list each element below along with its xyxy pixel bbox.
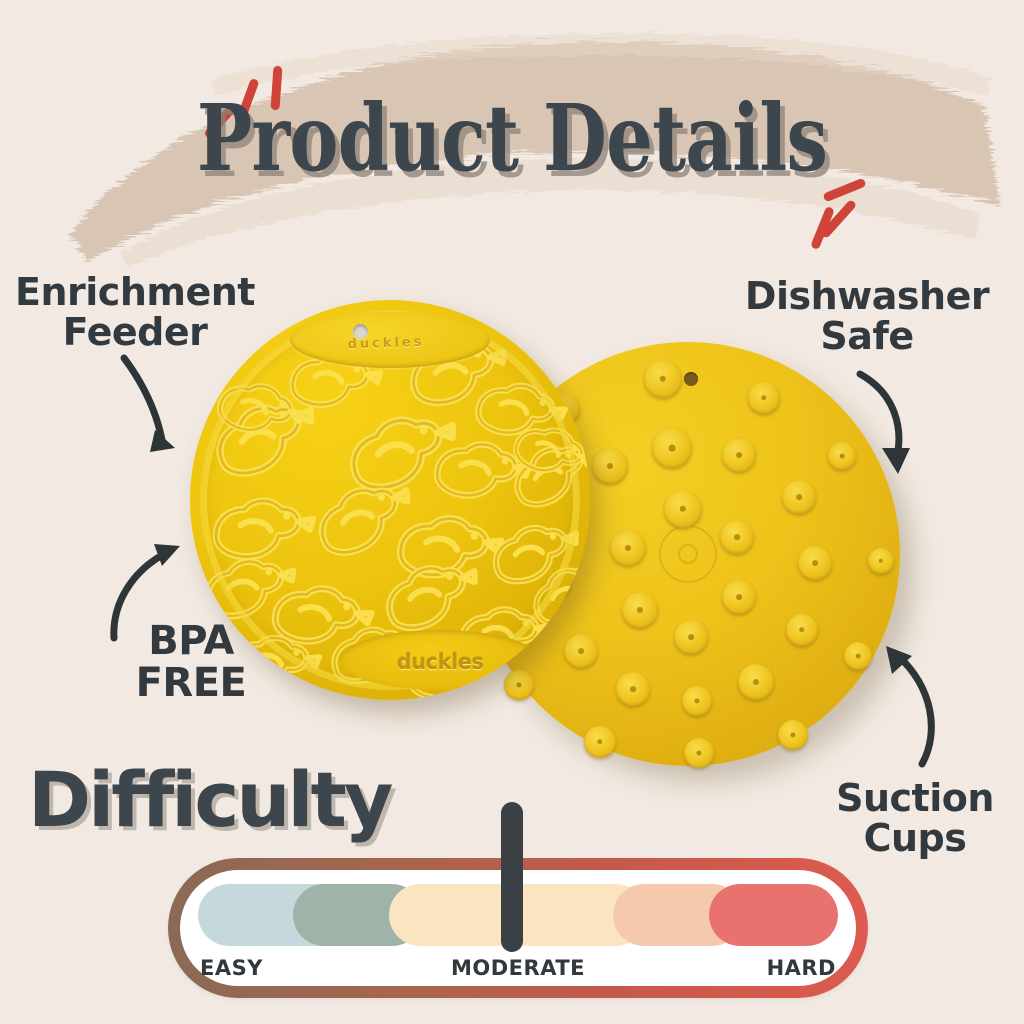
arrow-to-enrichment-feeder [112,352,202,472]
suction-cup [592,448,628,484]
vent-hole [684,372,698,386]
suction-cup [798,546,832,580]
callout-line: Suction [806,778,1024,818]
suction-cup [674,620,708,654]
difficulty-labels: EASY MODERATE HARD [198,946,838,986]
page-title: Product Details [102,92,921,184]
suction-cup [786,614,818,646]
difficulty-indicator[interactable] [501,802,523,952]
difficulty-segment-hard [709,884,838,946]
center-mark [659,525,717,583]
suction-cup [720,520,754,554]
suction-cup [584,726,616,758]
suction-cup [652,428,692,468]
callout-line: FREE [96,662,286,704]
difficulty-label-hard: HARD [767,956,836,980]
hanging-hole [353,324,368,339]
callout-dishwasher-safe: Dishwasher Safe [722,276,1012,357]
suction-cup [682,686,712,716]
callout-line: Dishwasher [722,276,1012,316]
arrow-to-dishwasher-safe [852,368,942,488]
suction-cup [722,438,756,472]
suction-cup [782,480,816,514]
difficulty-heading: Difficulty [28,762,390,838]
suction-cup [664,490,702,528]
suction-cup [748,382,780,414]
callout-line: Enrichment [4,272,266,312]
arrow-to-bpa-free [106,540,206,650]
brand-text-bottom: duckles [370,650,510,674]
suction-cup [844,642,872,670]
suction-cup [610,530,646,566]
callout-enrichment-feeder: Enrichment Feeder [4,272,266,353]
difficulty-label-moderate: MODERATE [451,956,585,980]
callout-suction-cups: Suction Cups [806,778,1024,859]
suction-cup [684,738,714,768]
callout-line: Feeder [4,312,266,352]
suction-cup [868,548,894,574]
suction-cup [622,592,658,628]
suction-cup [644,360,682,398]
arrow-to-suction-cups [876,640,966,770]
suction-cup [722,580,756,614]
callout-line: Safe [722,316,1012,356]
suction-cup [616,672,650,706]
callout-line: Cups [806,818,1024,858]
suction-cup [778,720,808,750]
suction-cup [738,664,774,700]
difficulty-label-easy: EASY [200,956,263,980]
